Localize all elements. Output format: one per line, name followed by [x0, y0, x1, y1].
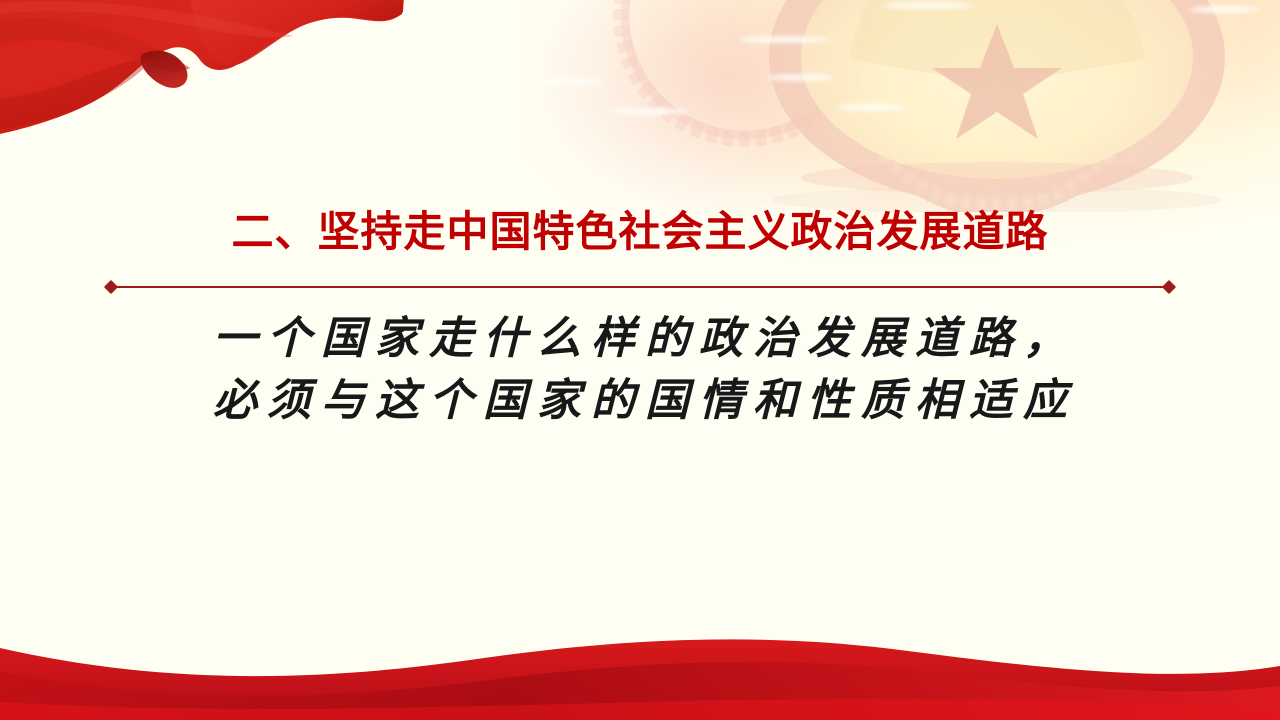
divider-rule	[112, 286, 1168, 288]
slide-canvas: 二、坚持走中国特色社会主义政治发展道路 一个国家走什么样的政治发展道路， 必须与…	[0, 0, 1280, 720]
red-wave-ribbon	[0, 610, 1280, 720]
diamond-cap-right-icon	[1162, 280, 1176, 294]
red-divider-line	[106, 282, 1174, 292]
body-text-block: 一个国家走什么样的政治发展道路， 必须与这个国家的国情和性质相适应	[0, 308, 1280, 432]
body-line-1: 一个国家走什么样的政治发展道路，	[0, 308, 1280, 370]
body-line-2: 必须与这个国家的国情和性质相适应	[0, 370, 1280, 432]
red-waving-flag	[0, 0, 404, 206]
light-streaks	[540, 0, 1280, 200]
page-title: 二、坚持走中国特色社会主义政治发展道路	[0, 208, 1280, 256]
